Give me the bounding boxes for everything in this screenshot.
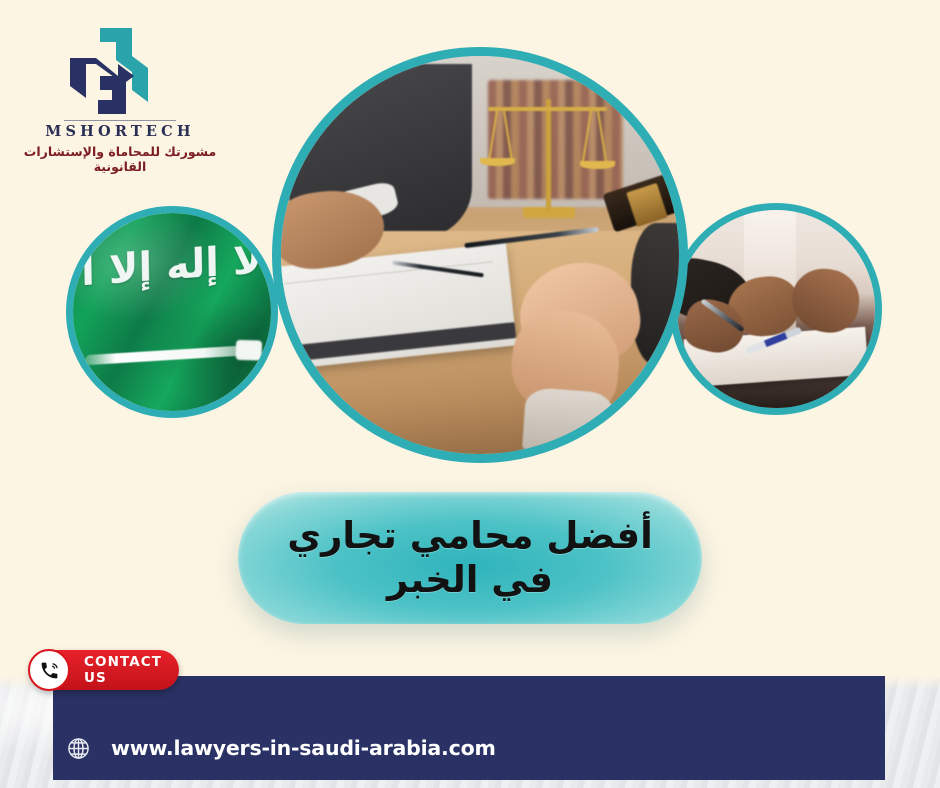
saudi-flag-circle: لا إله إلا الله محمد رسول الله xyxy=(66,206,278,418)
phone-ringing-icon xyxy=(28,649,70,691)
brand-logo[interactable]: MSHORTECH مشورتك للمحاماة والإستشارات ال… xyxy=(20,24,220,152)
headline-text: أفضل محامي تجاري في الخبر xyxy=(238,492,702,624)
contract-signing-photo xyxy=(677,210,875,408)
footer-bar xyxy=(53,676,885,780)
shahada-text: لا إله إلا الله محمد رسول الله xyxy=(80,238,263,342)
website-url: www.lawyers-in-saudi-arabia.com xyxy=(111,736,496,760)
flag-sword-icon xyxy=(85,344,256,364)
headline-line-1: أفضل محامي تجاري xyxy=(287,514,653,558)
logo-tagline-arabic: مشورتك للمحاماة والإستشارات القانونية xyxy=(20,144,220,174)
lawyer-consultation-circle xyxy=(272,47,688,463)
logo-wordmark: MSHORTECH xyxy=(20,123,220,140)
mshortech-monogram-icon xyxy=(56,24,168,116)
lawyer-consultation-photo xyxy=(281,56,679,454)
contact-us-label: CONTACT US xyxy=(84,650,179,690)
contract-signing-circle xyxy=(670,203,882,415)
logo-divider xyxy=(64,120,176,121)
scales-of-justice-icon xyxy=(480,88,615,223)
headline-banner: أفضل محامي تجاري في الخبر xyxy=(238,492,702,624)
poster-canvas: MSHORTECH مشورتك للمحاماة والإستشارات ال… xyxy=(0,0,940,788)
contact-us-button[interactable]: CONTACT US xyxy=(29,650,179,690)
saudi-flag-photo: لا إله إلا الله محمد رسول الله xyxy=(73,213,271,411)
headline-line-2: في الخبر xyxy=(387,558,553,602)
website-link[interactable]: www.lawyers-in-saudi-arabia.com xyxy=(66,733,496,763)
globe-icon xyxy=(66,736,91,761)
